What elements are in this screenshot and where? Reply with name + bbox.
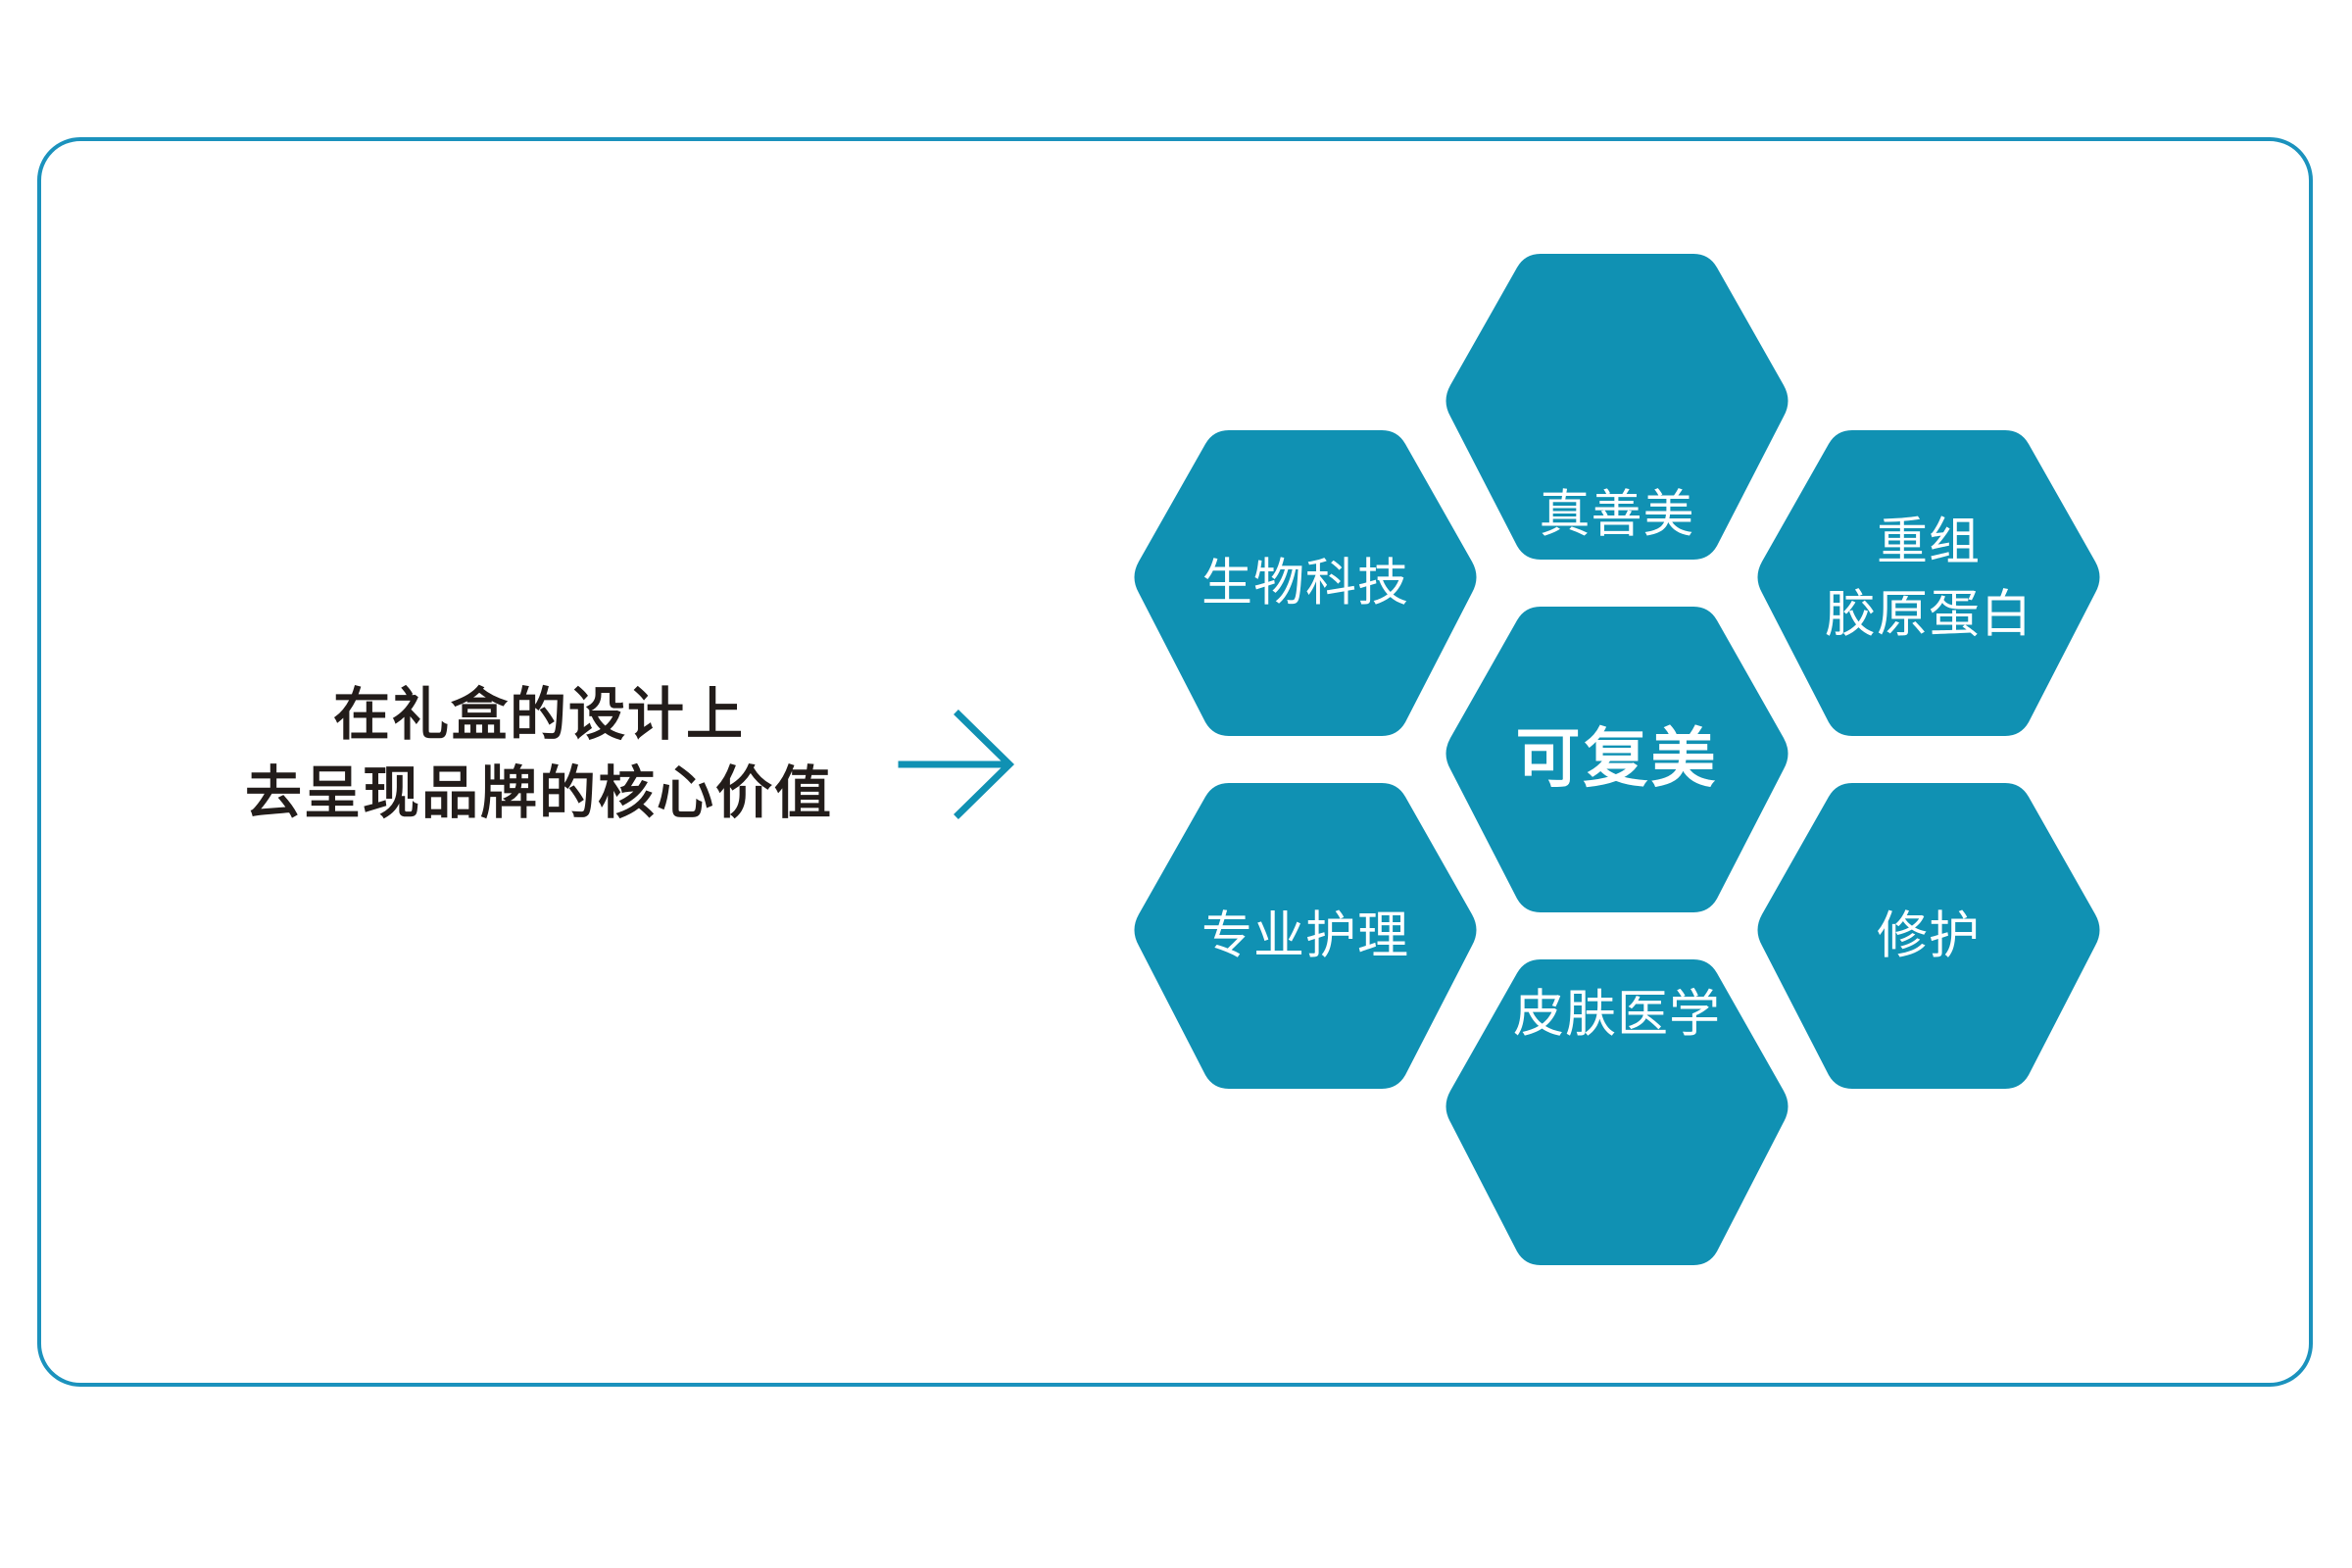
hex-label-lower-right: 修护 [1877,908,1981,965]
hex-top[interactable]: 真善美 [1446,254,1788,560]
hex-label-lower-left: 专业护理 [1201,908,1409,965]
hex-label-center: 可复美 [1516,721,1719,794]
hex-label-upper-right-line2: 胶原蛋白 [1825,587,2033,644]
hex-label-top: 真善美 [1539,487,1694,544]
hex-label-upper-right-line1: 重组 [1877,514,1981,571]
hex-bottom[interactable]: 皮肤医学 [1446,959,1788,1265]
hex-label-bottom: 皮肤医学 [1513,987,1721,1044]
arrow-right-icon [892,701,1107,828]
hex-lower-right[interactable]: 修护 [1758,783,2100,1089]
hex-center[interactable]: 可复美 [1446,607,1788,912]
hex-label-upper-left: 生物科技 [1201,556,1409,612]
slide-canvas: 在礼盒的设计上 去呈现品牌的核心价值 生物科技 [0,0,2352,1568]
hexagon-cluster: 生物科技 真善美 重组 胶原蛋白 修护 皮肤医学 [1117,235,2117,1294]
hex-upper-right[interactable]: 重组 胶原蛋白 [1758,430,2100,736]
caption-text: 在礼盒的设计上 去呈现品牌的核心价值 [206,676,872,833]
caption-line-2: 去呈现品牌的核心价值 [206,755,872,833]
hex-lower-left[interactable]: 专业护理 [1135,783,1477,1089]
caption-line-1: 在礼盒的设计上 [206,676,872,755]
hex-upper-left[interactable]: 生物科技 [1135,430,1477,736]
